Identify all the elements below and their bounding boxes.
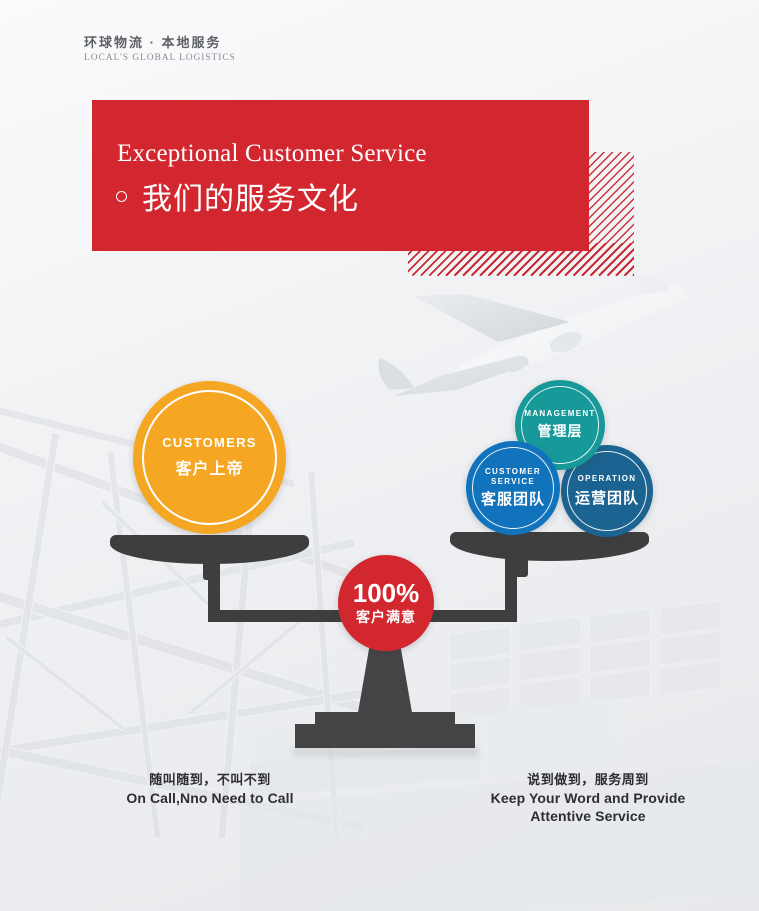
banner-title-cn-row: 我们的服务文化 bbox=[116, 174, 359, 218]
scale-base bbox=[295, 724, 475, 748]
caption-right-cn: 说到做到，服务周到 bbox=[483, 772, 693, 789]
caption-right-en-line1: Keep Your Word and Provide bbox=[483, 789, 693, 807]
logo-english: LOCAL'S GLOBAL LOGISTICS bbox=[84, 53, 236, 63]
circle-operation-label-en: OPERATION bbox=[578, 474, 637, 483]
circle-customers[interactable]: CUSTOMERS 客户上帝 bbox=[133, 381, 286, 534]
badge-satisfaction[interactable]: 100% 客户满意 bbox=[338, 555, 434, 651]
circle-management-label-cn: 管理层 bbox=[538, 421, 583, 441]
circle-customer-service[interactable]: CUSTOMER SERVICE 客服团队 bbox=[466, 441, 560, 535]
caption-right-en-line2: Attentive Service bbox=[483, 807, 693, 825]
circle-customers-label-cn: 客户上帝 bbox=[175, 455, 243, 479]
badge-satisfaction-value: 100% bbox=[353, 579, 420, 609]
circle-operation-label-cn: 运营团队 bbox=[575, 487, 639, 508]
caption-left-cn: 随叫随到，不叫不到 bbox=[110, 772, 310, 789]
circle-customers-label-en: CUSTOMERS bbox=[162, 436, 257, 451]
caption-left-en: On Call,Nno Need to Call bbox=[110, 789, 310, 807]
circle-bullet-icon bbox=[116, 191, 127, 202]
badge-satisfaction-label: 客户满意 bbox=[356, 607, 416, 627]
scale-base-shadow bbox=[292, 748, 478, 756]
caption-left: 随叫随到，不叫不到 On Call,Nno Need to Call bbox=[110, 772, 310, 807]
circle-customer-service-label-en: CUSTOMER SERVICE bbox=[466, 467, 560, 485]
slide-canvas: 环球物流 · 本地服务 LOCAL'S GLOBAL LOGISTICS Exc… bbox=[0, 0, 759, 911]
logo-chinese: 环球物流 · 本地服务 bbox=[84, 32, 236, 51]
circle-management-label-en: MANAGEMENT bbox=[524, 409, 595, 418]
brand-logo: 环球物流 · 本地服务 LOCAL'S GLOBAL LOGISTICS bbox=[84, 32, 236, 63]
banner-title-cn: 我们的服务文化 bbox=[142, 174, 359, 218]
title-banner: Exceptional Customer Service 我们的服务文化 bbox=[92, 100, 589, 251]
banner-title-en: Exceptional Customer Service bbox=[117, 140, 427, 168]
circle-customer-service-label-cn: 客服团队 bbox=[481, 488, 545, 509]
caption-right: 说到做到，服务周到 Keep Your Word and Provide Att… bbox=[483, 772, 693, 825]
